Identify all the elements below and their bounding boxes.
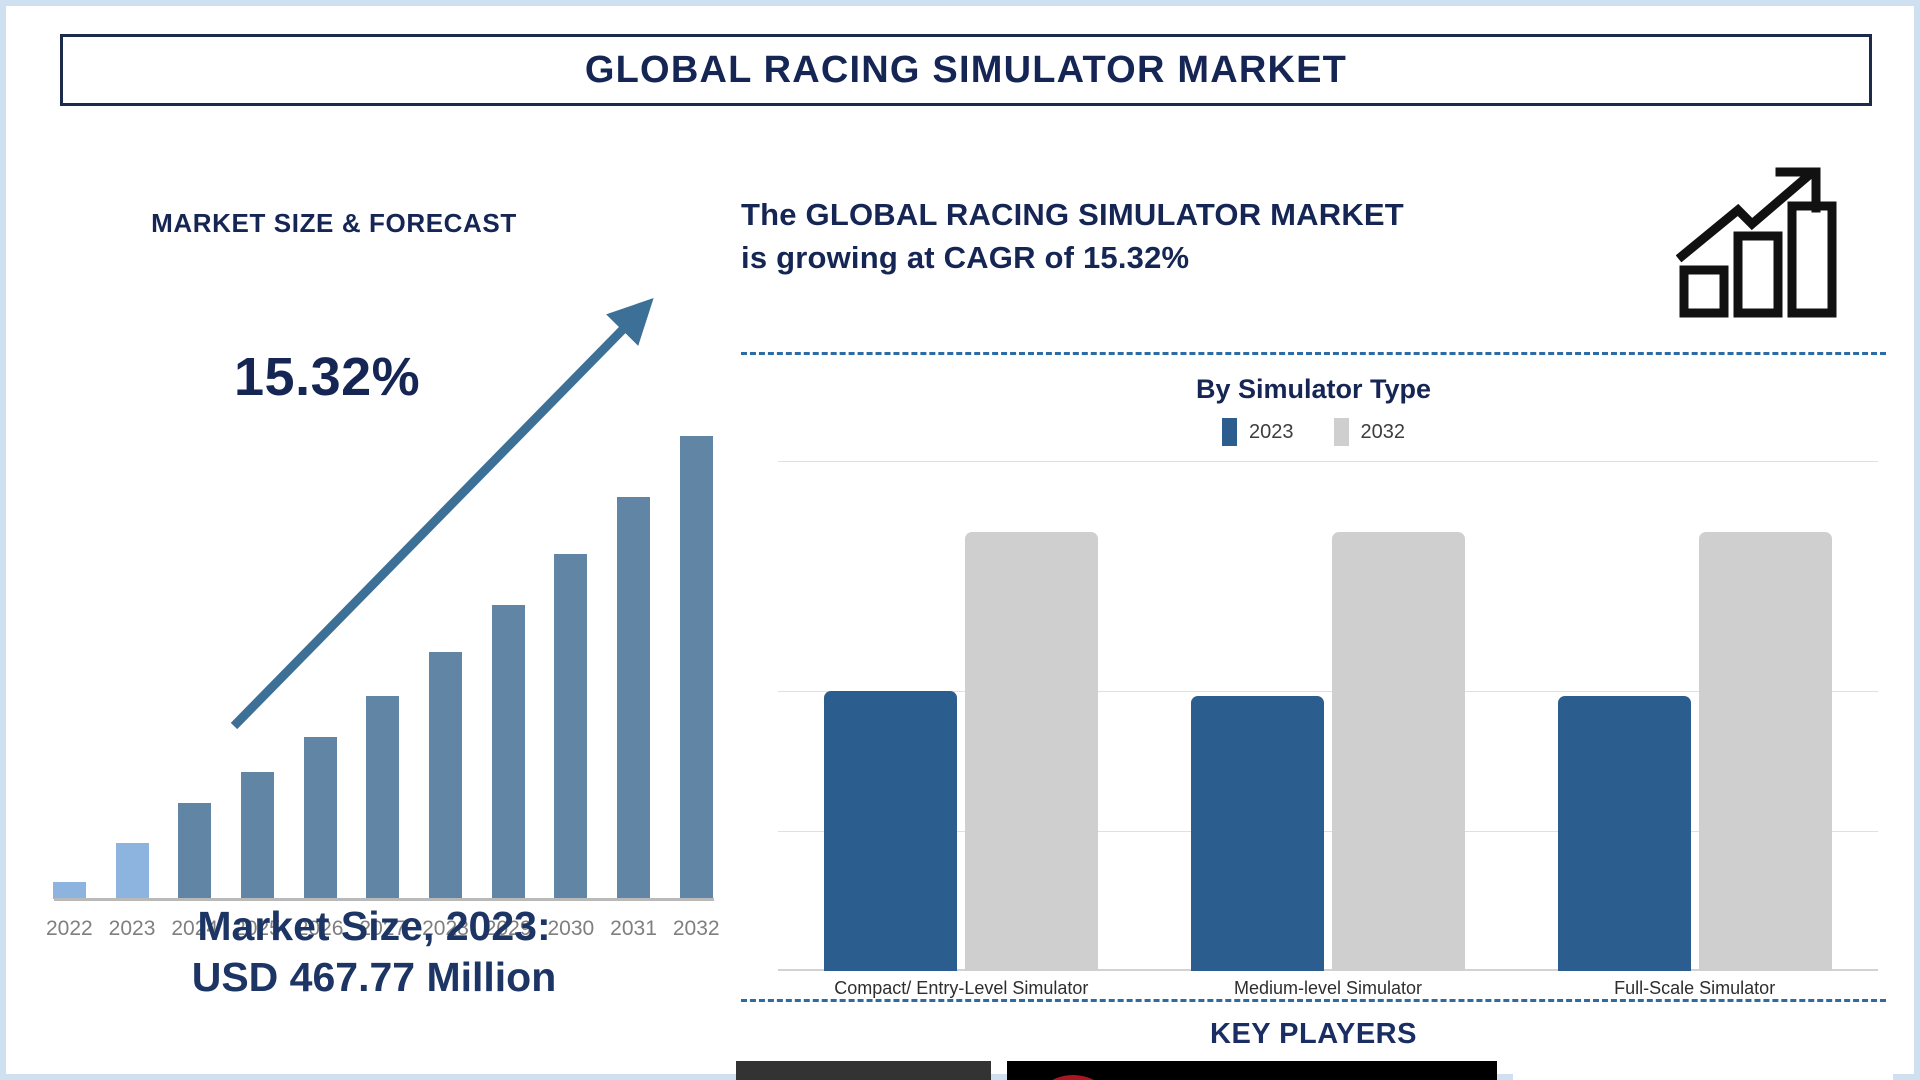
market-size-forecast-panel: MARKET SIZE & FORECAST 15.32%: [24, 156, 724, 1056]
left-chart-bars: [38, 409, 728, 899]
bar-2027: [366, 696, 399, 899]
logo-cxc-simulations: CXC SIMULATIONS: [736, 1061, 991, 1080]
bar-2026: [304, 737, 337, 899]
key-players-title: KEY PLAYERS: [741, 1018, 1886, 1051]
legend-item-2032: 2032: [1334, 418, 1406, 446]
category-label: Full-Scale Simulator: [1511, 978, 1878, 999]
trak-racer-badge-icon: R: [1027, 1075, 1119, 1080]
bar-column: [414, 409, 477, 899]
bar-2024: [178, 803, 211, 899]
bar-2029: [492, 605, 525, 899]
by-simulator-type-title: By Simulator Type: [741, 374, 1886, 405]
bar-2023: [116, 843, 149, 899]
by-simulator-type-chart: [778, 461, 1878, 971]
bar-column: [540, 409, 603, 899]
bar-column: [163, 409, 226, 899]
title-banner: GLOBAL RACING SIMULATOR MARKET: [60, 34, 1872, 106]
bar-column: [289, 409, 352, 899]
bar-2022: [53, 882, 86, 899]
page-title: GLOBAL RACING SIMULATOR MARKET: [585, 49, 1347, 92]
legend-label: 2032: [1361, 421, 1406, 444]
category-label: Medium-level Simulator: [1145, 978, 1512, 999]
bar-2023-fullscale: [1558, 696, 1691, 971]
bar-2032-medium: [1332, 532, 1465, 971]
bar-group-compact: [778, 461, 1145, 971]
market-size-forecast-label: MARKET SIZE & FORECAST: [24, 208, 644, 239]
bar-group-fullscale: [1511, 461, 1878, 971]
bar-column: [101, 409, 164, 899]
bar-column: [38, 409, 101, 899]
chart-legend: 2023 2032: [741, 418, 1886, 446]
bar-2023-compact: [824, 691, 957, 972]
bar-2031: [617, 497, 650, 899]
bar-column: [602, 409, 665, 899]
cagr-highlight: 15.32%: [234, 346, 420, 408]
divider-top: [741, 352, 1886, 355]
bar-2032-fullscale: [1699, 532, 1832, 971]
legend-swatch-icon: [1334, 418, 1349, 446]
legend-swatch-icon: [1222, 418, 1237, 446]
bar-2025: [241, 772, 274, 899]
bar-column: [665, 409, 728, 899]
bar-column: [351, 409, 414, 899]
legend-label: 2023: [1249, 421, 1294, 444]
cagr-headline-line-2: is growing at CAGR of 15.32%: [741, 237, 1671, 280]
bar-group-medium: [1145, 461, 1512, 971]
category-label: Compact/ Entry-Level Simulator: [778, 978, 1145, 999]
bar-2030: [554, 554, 587, 899]
bar-2032: [680, 436, 713, 899]
legend-item-2023: 2023: [1222, 418, 1294, 446]
market-size-line-2: USD 467.77 Million: [24, 952, 724, 1003]
bar-column: [477, 409, 540, 899]
logo-simxperience: SIMXPERIENCE: [1513, 1061, 1893, 1080]
bar-2028: [429, 652, 462, 899]
market-size-line-1: Market Size, 2023:: [24, 901, 724, 952]
by-simulator-type-category-labels: Compact/ Entry-Level Simulator Medium-le…: [778, 978, 1878, 999]
divider-bottom: [741, 999, 1886, 1002]
grouped-chart-plot: [778, 461, 1878, 971]
cagr-headline-line-1: The GLOBAL RACING SIMULATOR MARKET: [741, 194, 1671, 237]
bar-2023-medium: [1191, 696, 1324, 971]
right-panel: The GLOBAL RACING SIMULATOR MARKET is gr…: [726, 156, 1911, 1066]
key-players-logos: CXC SIMULATIONS R TRAK RACER REFINED GAM…: [736, 1056, 1901, 1080]
bar-2032-compact: [965, 532, 1098, 971]
growth-bar-arrow-icon: [1676, 164, 1846, 319]
cagr-headline: The GLOBAL RACING SIMULATOR MARKET is gr…: [741, 194, 1671, 280]
logo-trak-racer: R TRAK RACER REFINED GAMING: [1007, 1061, 1497, 1080]
market-size-2023-value: Market Size, 2023: USD 467.77 Million: [24, 901, 724, 1004]
bar-column: [226, 409, 289, 899]
grouped-chart-groups: [778, 461, 1878, 971]
infographic-page: GLOBAL RACING SIMULATOR MARKET MARKET SI…: [0, 0, 1920, 1080]
